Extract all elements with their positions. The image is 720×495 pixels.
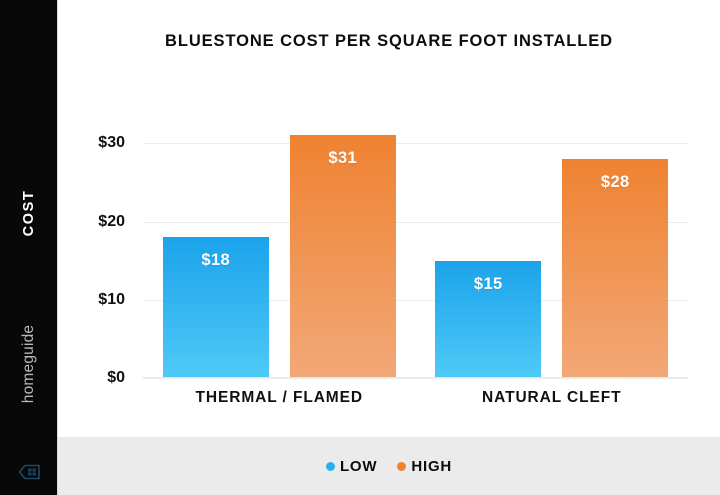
legend-label: LOW <box>340 458 377 475</box>
bar-high-2[interactable]: $28 <box>562 159 668 378</box>
sidebar: COST homeguide <box>0 0 58 495</box>
y-axis-title: COST <box>21 184 37 242</box>
x-axis-category-label: THERMAL / FLAMED <box>196 389 363 407</box>
y-axis-tick-label: $10 <box>98 291 125 309</box>
bar-low-1[interactable]: $18 <box>163 237 269 378</box>
chart-title: BLUESTONE COST PER SQUARE FOOT INSTALLED <box>58 32 720 51</box>
y-axis-tick-label: $30 <box>98 134 125 152</box>
chart-screenshot: COST homeguide BLUESTONE COST PER SQUARE… <box>0 0 720 495</box>
y-axis-labels: $0$10$20$30 <box>58 112 143 378</box>
bar-high-1[interactable]: $31 <box>290 135 396 378</box>
bar-value-label: $31 <box>290 149 396 168</box>
plot-area: $18$31$15$28 <box>143 112 688 378</box>
legend-label: HIGH <box>411 458 452 475</box>
bar-value-label: $28 <box>562 173 668 192</box>
bar-value-label: $18 <box>163 251 269 270</box>
bar-value-label: $15 <box>435 275 541 294</box>
house-tag-icon <box>18 461 42 483</box>
legend: LOWHIGH <box>58 437 720 495</box>
y-axis-tick-label: $20 <box>98 213 125 231</box>
chart-panel: BLUESTONE COST PER SQUARE FOOT INSTALLED… <box>58 0 720 495</box>
bar-low-2[interactable]: $15 <box>435 261 541 378</box>
brand-label: homeguide <box>20 313 38 415</box>
y-axis-tick-label: $0 <box>107 369 125 387</box>
legend-item-low[interactable]: LOW <box>326 458 377 475</box>
legend-item-high[interactable]: HIGH <box>397 458 452 475</box>
legend-swatch-icon <box>397 462 406 471</box>
legend-swatch-icon <box>326 462 335 471</box>
x-axis-labels: THERMAL / FLAMEDNATURAL CLEFT <box>143 389 688 415</box>
gridline <box>143 143 688 144</box>
x-axis-baseline <box>143 377 688 378</box>
x-axis-category-label: NATURAL CLEFT <box>482 389 621 407</box>
gridline <box>143 378 688 379</box>
